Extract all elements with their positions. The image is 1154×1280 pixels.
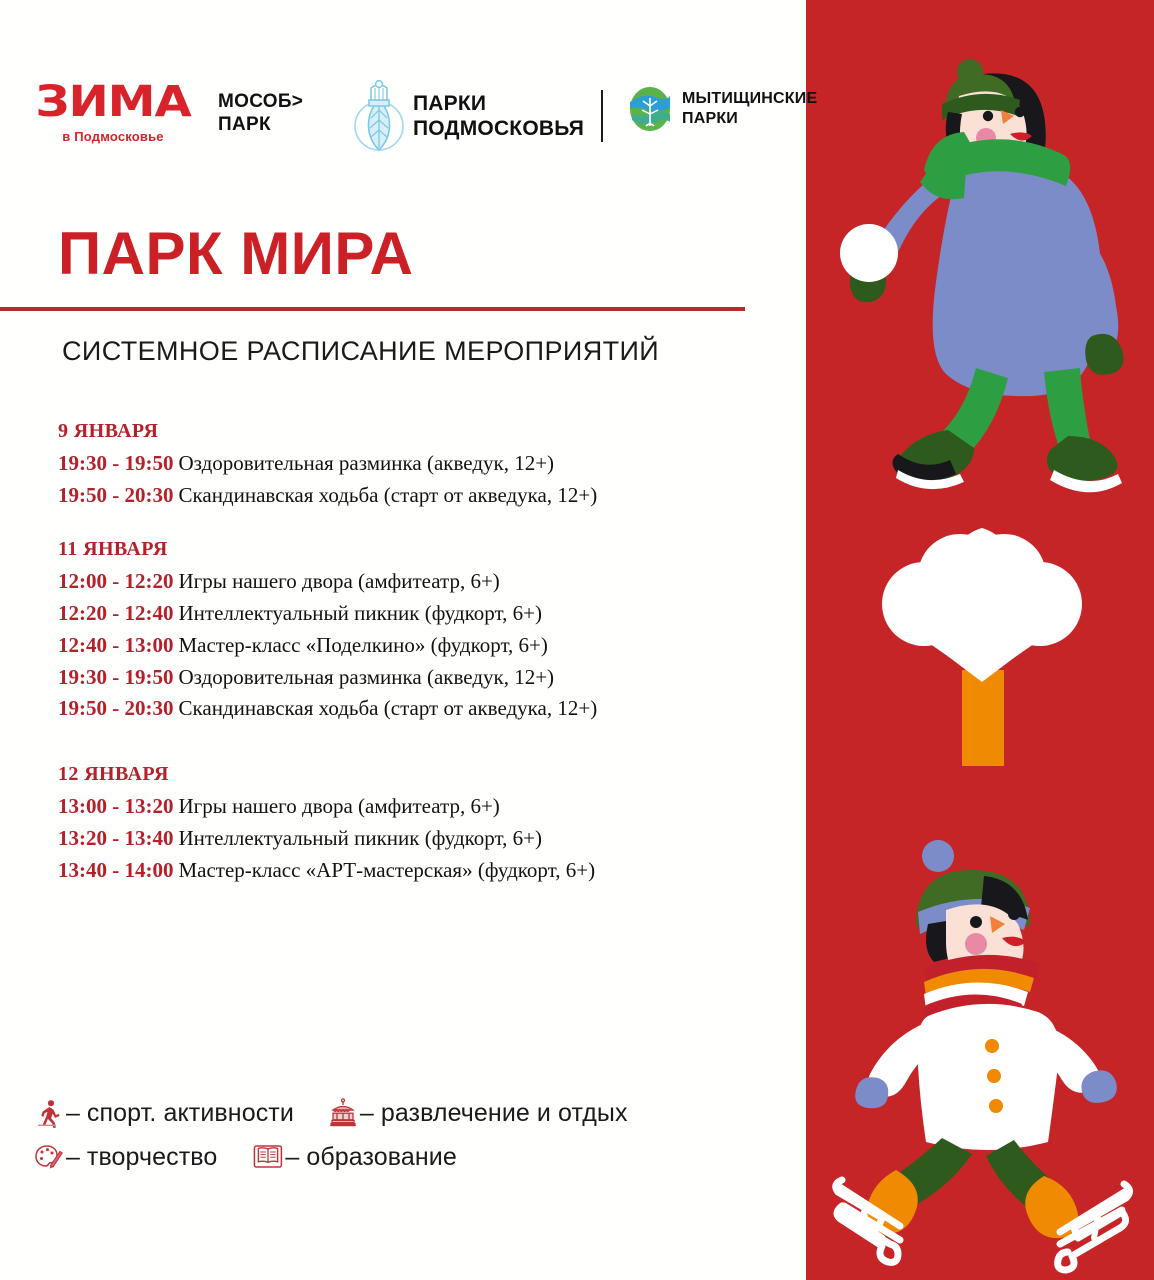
legend-item-creativity: – творчество <box>34 1142 217 1172</box>
mytishchinskie-line2: ПАРКИ <box>682 109 817 129</box>
parki-podmoskovya-text: ПАРКИ ПОДМОСКОВЬЯ <box>413 92 584 142</box>
legend-label-creativity: творчество <box>87 1143 218 1172</box>
legend: – спорт. активности <box>34 1098 754 1186</box>
event-row: 19:50 - 20:30Скандинавская ходьба (старт… <box>58 480 778 512</box>
legend-item-entertainment: – развлечение и отдых <box>328 1098 628 1128</box>
legend-label-education: образование <box>306 1143 457 1172</box>
event-title: Скандинавская ходьба (старт от акведука,… <box>178 483 597 507</box>
event-row: 19:30 - 19:50Оздоровительная разминка (а… <box>58 662 778 694</box>
legend-dash: – <box>360 1099 374 1128</box>
girl-with-snowball-illustration <box>828 50 1138 480</box>
day-date-heading: 9 ЯНВАРЯ <box>58 420 778 443</box>
green-leaf-circle-icon <box>628 86 672 132</box>
event-row: 12:40 - 13:00Мастер-класс «Поделкино» (ф… <box>58 630 778 662</box>
page-title: ПАРК МИРА <box>58 224 413 284</box>
poster-root: ЗИМА в Подмосковье МОСОБ> ПАРК <box>0 0 1154 1280</box>
event-row: 12:20 - 12:40Интеллектуальный пикник (фу… <box>58 598 778 630</box>
event-row: 13:40 - 14:00Мастер-класс «АРТ-мастерска… <box>58 855 778 887</box>
event-title: Игры нашего двора (амфитеатр, 6+) <box>178 794 499 818</box>
legend-dash: – <box>285 1143 299 1172</box>
parki-line1: ПАРКИ <box>413 92 486 115</box>
mytishchinskie-parki-logo: МЫТИЩИНСКИЕ ПАРКИ <box>628 86 817 132</box>
day-block: 11 ЯНВАРЯ 12:00 - 12:20Игры нашего двора… <box>58 538 778 726</box>
leaf-with-hat-icon <box>353 80 405 154</box>
schedule-list: 9 ЯНВАРЯ 19:30 - 19:50Оздоровительная ра… <box>58 420 778 887</box>
logo-row: ЗИМА в Подмосковье МОСОБ> ПАРК <box>28 78 798 160</box>
event-time: 19:30 - 19:50 <box>58 665 173 689</box>
event-row: 19:50 - 20:30Скандинавская ходьба (старт… <box>58 693 778 725</box>
running-person-icon <box>34 1098 64 1128</box>
event-time: 12:20 - 12:40 <box>58 601 173 625</box>
legend-dash: – <box>66 1143 80 1172</box>
legend-label-entertainment: развлечение и отдых <box>381 1099 628 1128</box>
event-row: 12:00 - 12:20Игры нашего двора (амфитеат… <box>58 566 778 598</box>
ice-skater-illustration <box>824 840 1144 1220</box>
carousel-icon <box>328 1098 358 1128</box>
day-block: 9 ЯНВАРЯ 19:30 - 19:50Оздоровительная ра… <box>58 420 778 512</box>
day-date-heading: 11 ЯНВАРЯ <box>58 538 778 561</box>
zima-wordmark: ЗИМА <box>18 82 208 123</box>
page-subtitle: СИСТЕМНОЕ РАСПИСАНИЕ МЕРОПРИЯТИЙ <box>62 336 659 367</box>
event-time: 19:50 - 20:30 <box>58 483 173 507</box>
event-time: 13:20 - 13:40 <box>58 826 173 850</box>
parki-line2: ПОДМОСКОВЬЯ <box>413 117 584 142</box>
event-title: Игры нашего двора (амфитеатр, 6+) <box>178 569 499 593</box>
event-title: Интеллектуальный пикник (фудкорт, 6+) <box>178 601 541 625</box>
event-time: 13:00 - 13:20 <box>58 794 173 818</box>
mosoblpark-line2: ПАРК <box>218 113 303 136</box>
legend-row: – творчество <box>34 1142 754 1172</box>
event-row: 19:30 - 19:50Оздоровительная разминка (а… <box>58 448 778 480</box>
parki-podmoskovya-logo: ПАРКИ ПОДМОСКОВЬЯ <box>353 80 584 154</box>
event-title: Скандинавская ходьба (старт от акведука,… <box>178 696 597 720</box>
mytishchinskie-line1: МЫТИЩИНСКИЕ <box>682 90 817 107</box>
event-row: 13:00 - 13:20Игры нашего двора (амфитеат… <box>58 791 778 823</box>
event-title: Мастер-класс «АРТ-мастерская» (фудкорт, … <box>178 858 595 882</box>
logo-divider <box>601 90 603 142</box>
event-time: 19:50 - 20:30 <box>58 696 173 720</box>
legend-row: – спорт. активности <box>34 1098 754 1128</box>
open-book-icon <box>253 1142 283 1172</box>
event-title: Оздоровительная разминка (акведук, 12+) <box>178 665 554 689</box>
palette-icon <box>34 1142 64 1172</box>
legend-label-sport: спорт. активности <box>87 1099 294 1128</box>
snow-covered-tree-illustration <box>862 520 1102 790</box>
legend-item-education: – образование <box>253 1142 456 1172</box>
mytishchinskie-parki-text: МЫТИЩИНСКИЕ ПАРКИ <box>682 89 817 128</box>
day-date-heading: 12 ЯНВАРЯ <box>58 763 778 786</box>
mosoblpark-line1: МОСОБ> <box>218 91 303 112</box>
event-title: Оздоровительная разминка (акведук, 12+) <box>178 451 554 475</box>
legend-item-sport: – спорт. активности <box>34 1098 294 1128</box>
zima-logo: ЗИМА в Подмосковье <box>28 82 198 144</box>
event-time: 12:00 - 12:20 <box>58 569 173 593</box>
event-row: 13:20 - 13:40Интеллектуальный пикник (фу… <box>58 823 778 855</box>
event-title: Интеллектуальный пикник (фудкорт, 6+) <box>178 826 541 850</box>
legend-dash: – <box>66 1099 80 1128</box>
event-time: 13:40 - 14:00 <box>58 858 173 882</box>
event-time: 12:40 - 13:00 <box>58 633 173 657</box>
event-title: Мастер-класс «Поделкино» (фудкорт, 6+) <box>178 633 547 657</box>
day-block: 12 ЯНВАРЯ 13:00 - 13:20Игры нашего двора… <box>58 763 778 887</box>
zima-tagline: в Подмосковье <box>28 129 198 144</box>
title-divider-rule <box>0 307 745 311</box>
mosoblpark-logo: МОСОБ> ПАРК <box>218 90 303 136</box>
event-time: 19:30 - 19:50 <box>58 451 173 475</box>
